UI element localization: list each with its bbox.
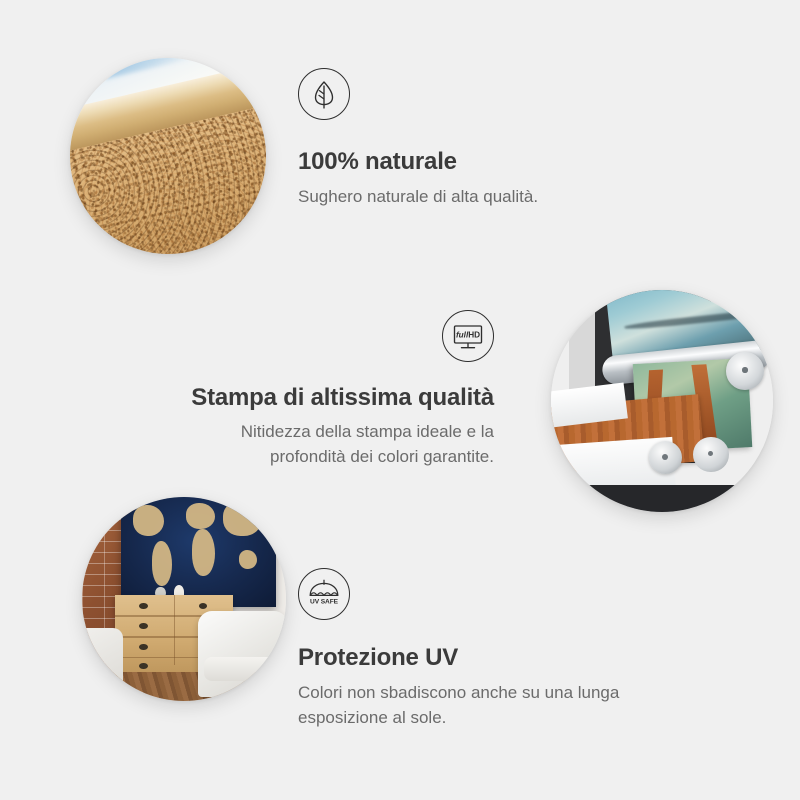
white-armchair xyxy=(198,611,286,697)
fullhd-label-hd: HD xyxy=(468,331,480,340)
map-continent xyxy=(152,541,172,586)
feature-uv-protection-subtext-line1: Colori non sbadiscono anche su una lunga xyxy=(298,681,619,706)
cork-texture-photo xyxy=(70,58,266,254)
feature-print-quality-heading: Stampa di altissima qualità xyxy=(186,384,494,412)
printing-machine-photo xyxy=(551,290,773,512)
map-continent xyxy=(133,505,164,536)
feature-natural-heading: 100% naturale xyxy=(298,148,538,176)
feature-uv-protection-subtext-line2: esposizione al sole. xyxy=(298,706,619,731)
feature-uv-protection-heading: Protezione UV xyxy=(298,644,619,672)
map-continent xyxy=(192,529,215,576)
fullhd-monitor-icon: fullHD xyxy=(442,310,494,362)
map-continent xyxy=(239,550,258,569)
feature-print-quality-subtext-line1: Nitidezza della stampa ideale e la xyxy=(186,420,494,445)
map-continent xyxy=(223,501,262,536)
feature-natural-subtext: Sughero naturale di alta qualità. xyxy=(298,185,538,210)
uv-safe-label: UV SAFE xyxy=(310,599,339,606)
feature-natural: 100% naturale Sughero naturale di alta q… xyxy=(298,68,538,210)
fullhd-label-full: full xyxy=(456,331,469,340)
interior-world-map-photo xyxy=(82,497,286,701)
printer-base xyxy=(551,485,773,512)
printer-knob-center xyxy=(649,441,682,474)
feature-uv-protection: UV SAFE Protezione UV Colori non sbadisc… xyxy=(298,568,619,730)
white-armchair-secondary xyxy=(82,628,123,697)
uv-umbrella-icon: UV SAFE xyxy=(298,568,350,620)
feature-print-quality: fullHD Stampa di altissima qualità Nitid… xyxy=(186,310,494,469)
feature-panel: 100% naturale Sughero naturale di alta q… xyxy=(0,0,800,800)
printer-knob-lower xyxy=(693,437,729,473)
leaf-icon xyxy=(298,68,350,120)
svg-text:fullHD: fullHD xyxy=(456,331,480,340)
map-continent xyxy=(186,503,215,529)
printer-knob-right xyxy=(726,352,764,390)
world-map-canvas xyxy=(121,497,276,607)
feature-print-quality-subtext-line2: profondità dei colori garantite. xyxy=(186,445,494,470)
